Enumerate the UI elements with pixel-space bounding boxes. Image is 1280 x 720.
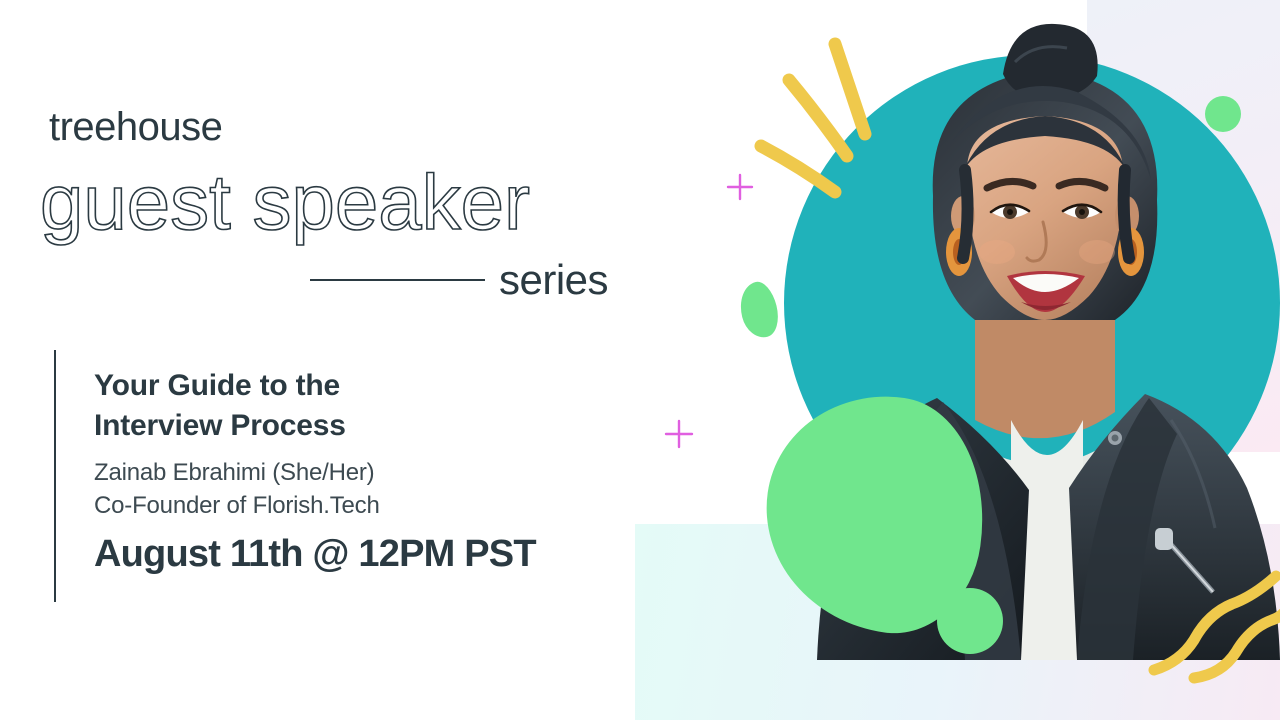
series-label: series <box>499 259 608 301</box>
speaker-role: Co-Founder of Florish.Tech <box>94 490 634 522</box>
event-details-block: Your Guide to the Interview Process Zain… <box>54 350 634 602</box>
magenta-plus-icon <box>726 173 754 201</box>
magenta-plus-icon <box>664 419 694 449</box>
content-column: treehouse guest speaker series Your Guid… <box>0 0 660 720</box>
guest-speaker-outline-title: guest speaker <box>40 163 530 241</box>
yellow-squiggle-strokes-icon <box>1150 570 1280 690</box>
series-divider-rule <box>310 279 485 281</box>
series-row: series <box>310 255 625 305</box>
event-datetime: August 11th @ 12PM PST <box>94 534 634 576</box>
green-circle-icon <box>937 588 1003 654</box>
treehouse-wordmark: treehouse <box>49 107 222 147</box>
speaker-name: Zainab Ebrahimi (She/Her) <box>94 457 634 489</box>
green-blob-small <box>735 278 783 341</box>
talk-title: Your Guide to the Interview Process <box>94 366 634 445</box>
promo-slide: treehouse guest speaker series Your Guid… <box>0 0 1280 720</box>
talk-title-line-2: Interview Process <box>94 406 634 446</box>
yellow-sparkle-strokes-icon <box>735 30 915 200</box>
talk-title-line-1: Your Guide to the <box>94 366 634 406</box>
